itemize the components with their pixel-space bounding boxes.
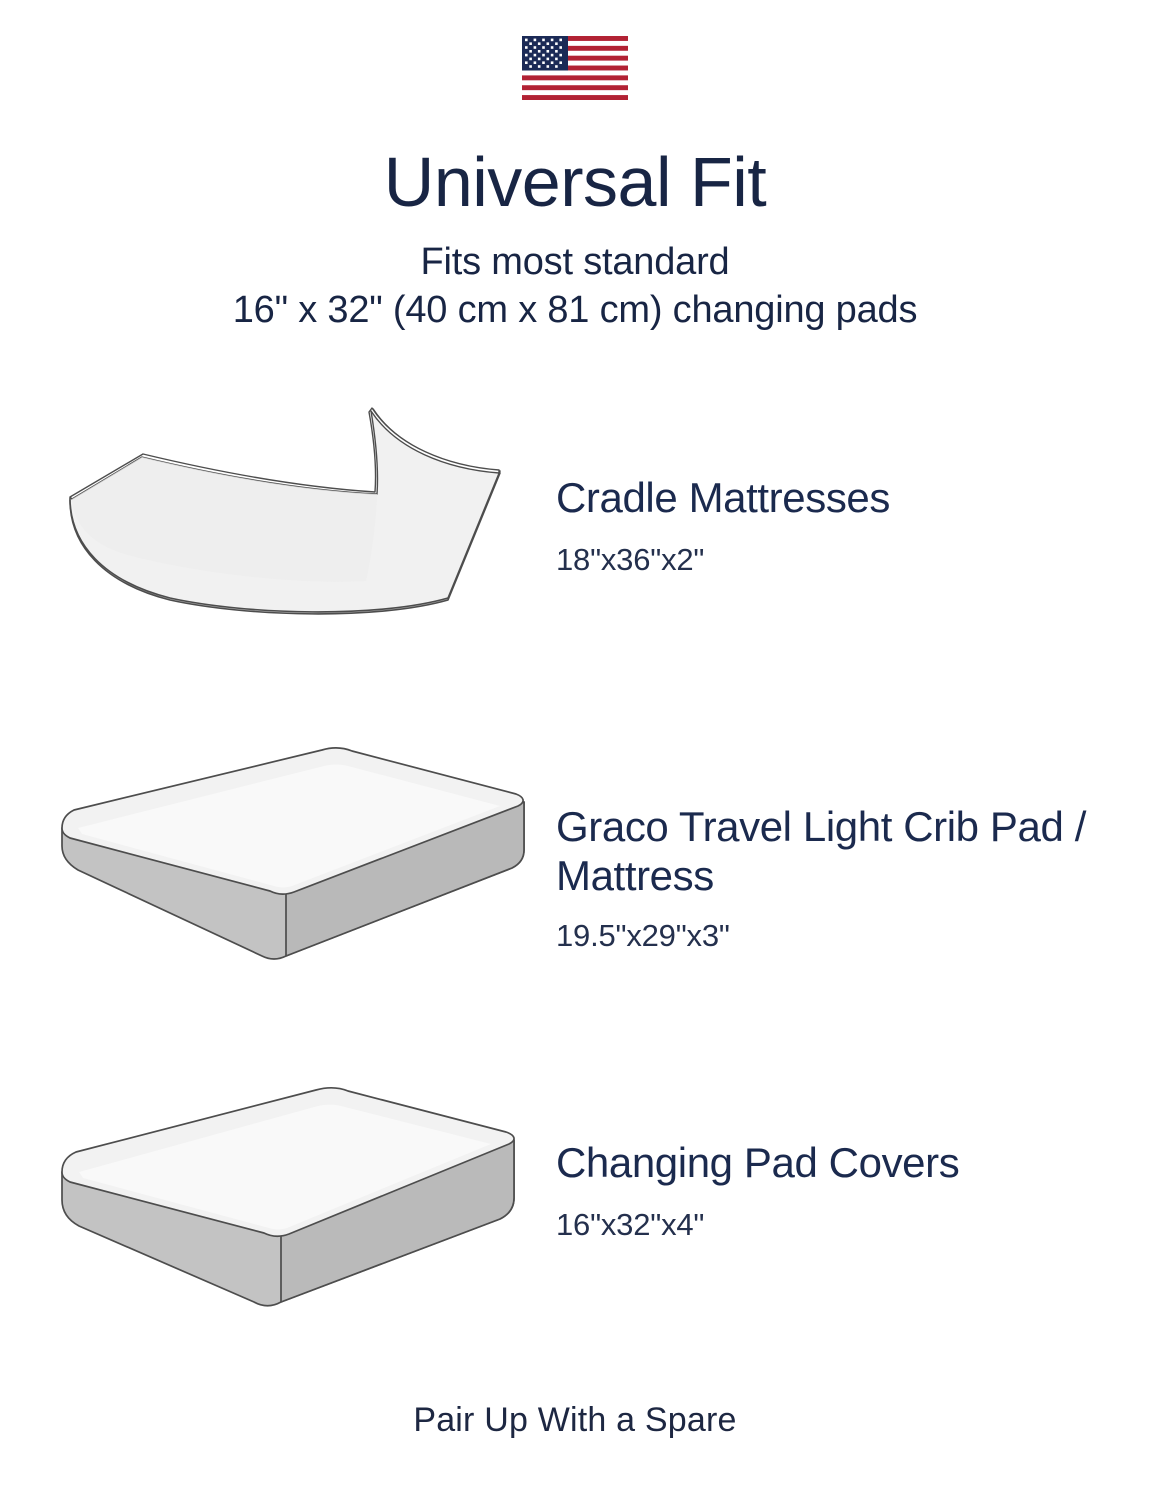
- footer-tagline: Pair Up With a Spare: [0, 1398, 1150, 1442]
- contoured-changing-pad-illustration: [48, 395, 548, 645]
- product-row: Cradle Mattresses 18"x36"x2": [0, 395, 1150, 655]
- product-text-block: Cradle Mattresses 18"x36"x2": [556, 473, 1116, 580]
- thick-flat-mattress-illustration: [48, 1080, 548, 1330]
- product-row: Changing Pad Covers 16"x32"x4": [0, 1080, 1150, 1340]
- header-block: Universal Fit Fits most standard 16" x 3…: [0, 140, 1150, 334]
- product-text-block: Changing Pad Covers 16"x32"x4": [556, 1138, 1116, 1245]
- page-title: Universal Fit: [0, 140, 1150, 224]
- product-row: Graco Travel Light Crib Pad / Mattress 1…: [0, 740, 1150, 1000]
- product-title: Changing Pad Covers: [556, 1138, 1116, 1187]
- product-text-block: Graco Travel Light Crib Pad / Mattress 1…: [556, 802, 1116, 956]
- thin-flat-mattress-illustration: [48, 740, 548, 990]
- product-title: Cradle Mattresses: [556, 473, 1116, 522]
- united-states-flag-icon: [522, 36, 628, 100]
- product-dimensions: 16"x32"x4": [556, 1205, 1116, 1245]
- subtitle-line-2: 16" x 32" (40 cm x 81 cm) changing pads: [0, 286, 1150, 334]
- subtitle-line-1: Fits most standard: [0, 238, 1150, 286]
- product-dimensions: 18"x36"x2": [556, 540, 1116, 580]
- flag-container: [0, 36, 1150, 105]
- product-dimensions: 19.5"x29"x3": [556, 916, 1116, 956]
- product-title: Graco Travel Light Crib Pad / Mattress: [556, 802, 1116, 900]
